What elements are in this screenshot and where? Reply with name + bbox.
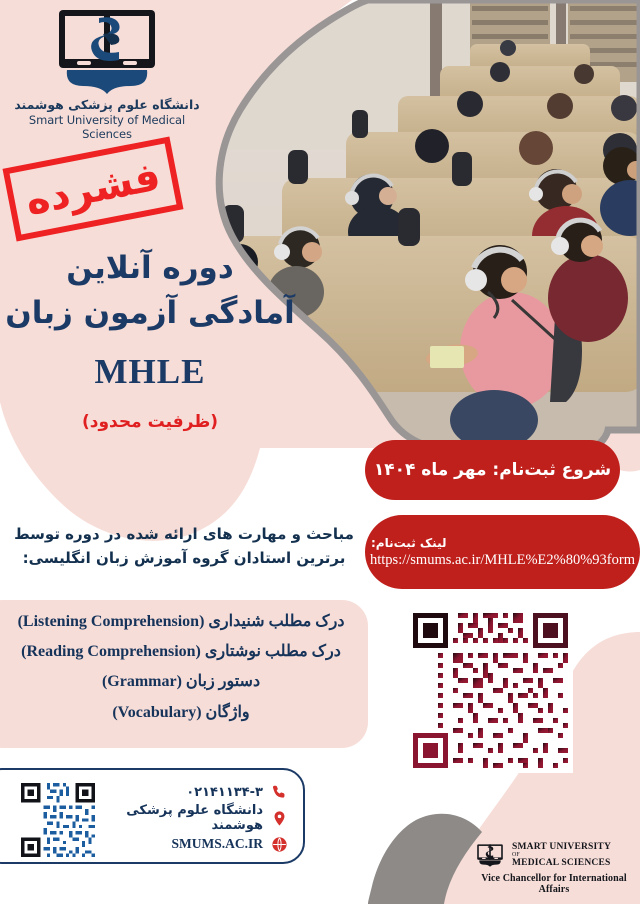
stamp-border: فشرده bbox=[3, 136, 184, 241]
contact-details: ۰۲۱۴۱۱۳۴-۳ دانشگاه علوم پزشکی هوشمند SMU… bbox=[108, 779, 288, 857]
footer-name-line-3: MEDICAL SCIENCES bbox=[512, 858, 611, 868]
footer-subtitle: Vice Chancellor for International Affair… bbox=[474, 873, 634, 895]
contact-phone: ۰۲۱۴۱۱۳۴-۳ bbox=[186, 785, 263, 800]
footer-name-line-1: SMART UNIVERSITY bbox=[512, 842, 611, 852]
description-line-1: مباحث و مهارت های ارائه شده در دوره توسط bbox=[0, 522, 368, 546]
footer-logo-block: SMART UNIVERSITY OF MEDICAL SCIENCES Vic… bbox=[474, 840, 634, 895]
logo-name-en: Smart University of Medical Sciences bbox=[14, 113, 200, 141]
phone-icon bbox=[271, 784, 288, 801]
registration-link-label: لینک ثبت‌نام: bbox=[371, 536, 446, 550]
intensive-stamp: فشرده bbox=[3, 136, 184, 241]
laptop-book-serpent-logo bbox=[474, 840, 506, 870]
registration-start-banner: شروع ثبت‌نام: مهر ماه ۱۴۰۴ bbox=[365, 440, 620, 500]
headline-block: دوره آنلاین آمادگی آزمون زبان MHLE (ظرفی… bbox=[0, 246, 300, 432]
course-description: مباحث و مهارت های ارائه شده در دوره توسط… bbox=[0, 522, 368, 570]
headline-line-1: دوره آنلاین bbox=[0, 246, 300, 291]
contact-address: دانشگاه علوم پزشکی هوشمند bbox=[108, 803, 263, 833]
contact-website-row[interactable]: SMUMS.AC.IR bbox=[108, 831, 288, 857]
laptop-book-serpent-logo bbox=[47, 4, 167, 96]
contact-phone-row[interactable]: ۰۲۱۴۱۱۳۴-۳ bbox=[108, 779, 288, 805]
description-line-2: برترین استادان گروه آموزش زبان انگلیسی: bbox=[0, 546, 368, 570]
exam-name: MHLE bbox=[0, 352, 300, 392]
stamp-label: فشرده bbox=[22, 156, 163, 221]
skill-item-reading: درک مطلب نوشتاری (Reading Comprehension) bbox=[0, 642, 362, 661]
registration-start-text: شروع ثبت‌نام: مهر ماه ۱۴۰۴ bbox=[374, 460, 611, 480]
university-logo-block: دانشگاه علوم پزشکی هوشمند Smart Universi… bbox=[14, 4, 200, 141]
headline-line-2: آمادگی آزمون زبان bbox=[0, 291, 300, 336]
registration-qr-code[interactable] bbox=[408, 608, 573, 773]
registration-link-banner[interactable]: لینک ثبت‌نام: https://smums.ac.ir/MHLE%E… bbox=[365, 515, 640, 589]
poster-canvas: دانشگاه علوم پزشکی هوشمند Smart Universi… bbox=[0, 0, 640, 904]
skill-item-vocabulary: واژگان (Vocabulary) bbox=[0, 703, 362, 722]
contact-website[interactable]: SMUMS.AC.IR bbox=[171, 836, 263, 852]
capacity-note: (ظرفیت محدود) bbox=[0, 412, 300, 432]
contact-address-row: دانشگاه علوم پزشکی هوشمند bbox=[108, 805, 288, 831]
skill-item-grammar: دستور زبان (Grammar) bbox=[0, 672, 362, 691]
location-pin-icon bbox=[271, 810, 288, 827]
skill-item-listening: درک مطلب شنیداری (Listening Comprehensio… bbox=[0, 612, 362, 631]
skills-list: درک مطلب شنیداری (Listening Comprehensio… bbox=[0, 612, 362, 733]
globe-icon bbox=[271, 836, 288, 853]
registration-link-url[interactable]: https://smums.ac.ir/MHLE%E2%80%93form bbox=[370, 552, 635, 569]
contact-qr-code[interactable] bbox=[18, 780, 98, 860]
logo-name-fa: دانشگاه علوم پزشکی هوشمند bbox=[14, 97, 200, 112]
